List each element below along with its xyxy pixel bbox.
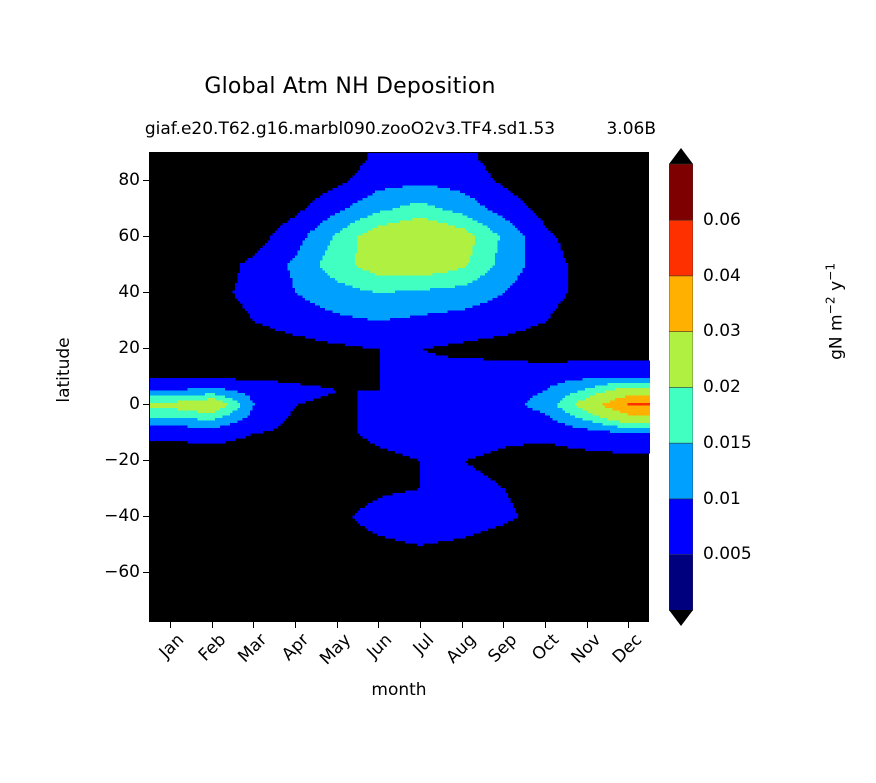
figure-canvas: Global Atm NH Deposition giaf.e20.T62.g1… [0,0,876,783]
colorbar-over-arrow [669,148,693,164]
y-tick-label: 0 [80,394,140,414]
colorbar-swatches [669,148,693,626]
x-axis-label: month [149,680,649,700]
colorbar-label-mid: y [826,281,846,296]
x-tick-mark [253,622,254,628]
colorbar-tick-label: 0.02 [703,377,741,397]
y-tick-mark [143,460,149,461]
y-tick-mark [143,404,149,405]
y-tick-mark [143,180,149,181]
colorbar-tick-label: 0.03 [703,321,741,341]
y-tick-mark [143,572,149,573]
colorbar-tick-label: 0.015 [703,433,752,453]
colorbar-band [669,554,693,610]
y-tick-mark [143,516,149,517]
y-tick-label: 80 [80,170,140,190]
colorbar-tick-label: 0.005 [703,544,752,564]
contour-plot-area [149,152,649,622]
x-tick-mark [545,622,546,628]
colorbar-band [669,499,693,555]
figure-subtitle-overlay: 3.06B [0,119,656,139]
y-tick-label: 60 [80,226,140,246]
y-tick-label: −40 [80,506,140,526]
x-tick-mark [628,622,629,628]
y-tick-mark [143,348,149,349]
x-tick-mark [212,622,213,628]
y-tick-label: 20 [80,338,140,358]
colorbar-label-exp2: −1 [824,263,838,281]
y-tick-mark [143,292,149,293]
colorbar: 0.0050.010.0150.020.030.040.06 [669,148,693,626]
colorbar-band [669,220,693,276]
page-title: Global Atm NH Deposition [0,74,700,99]
colorbar-label-prefix: gN m [826,314,846,359]
colorbar-band [669,164,693,220]
x-tick-mark [503,622,504,628]
y-tick-label: −20 [80,450,140,470]
colorbar-tick-label: 0.06 [703,210,741,230]
y-axis-label: latitude [54,300,74,440]
x-tick-mark [337,622,338,628]
colorbar-band [669,331,693,387]
x-tick-mark [378,622,379,628]
colorbar-label-exp1: −2 [824,296,838,314]
y-tick-mark [143,236,149,237]
x-axis-ticks [149,622,649,628]
y-tick-label: 40 [80,282,140,302]
x-tick-mark [420,622,421,628]
contour-plot-svg [150,153,650,623]
colorbar-under-arrow [669,610,693,626]
colorbar-tick-label: 0.04 [703,266,741,286]
x-tick-mark [462,622,463,628]
y-tick-label: −60 [80,562,140,582]
x-tick-mark [295,622,296,628]
x-tick-mark [587,622,588,628]
colorbar-band [669,443,693,499]
colorbar-label: gN m−2 y−1 [824,221,847,401]
x-tick-mark [170,622,171,628]
y-axis-ticklabels: 806040200−20−40−60 [78,152,140,622]
colorbar-tick-label: 0.01 [703,489,741,509]
colorbar-band [669,276,693,332]
y-axis-ticks [143,152,149,622]
colorbar-band [669,387,693,443]
